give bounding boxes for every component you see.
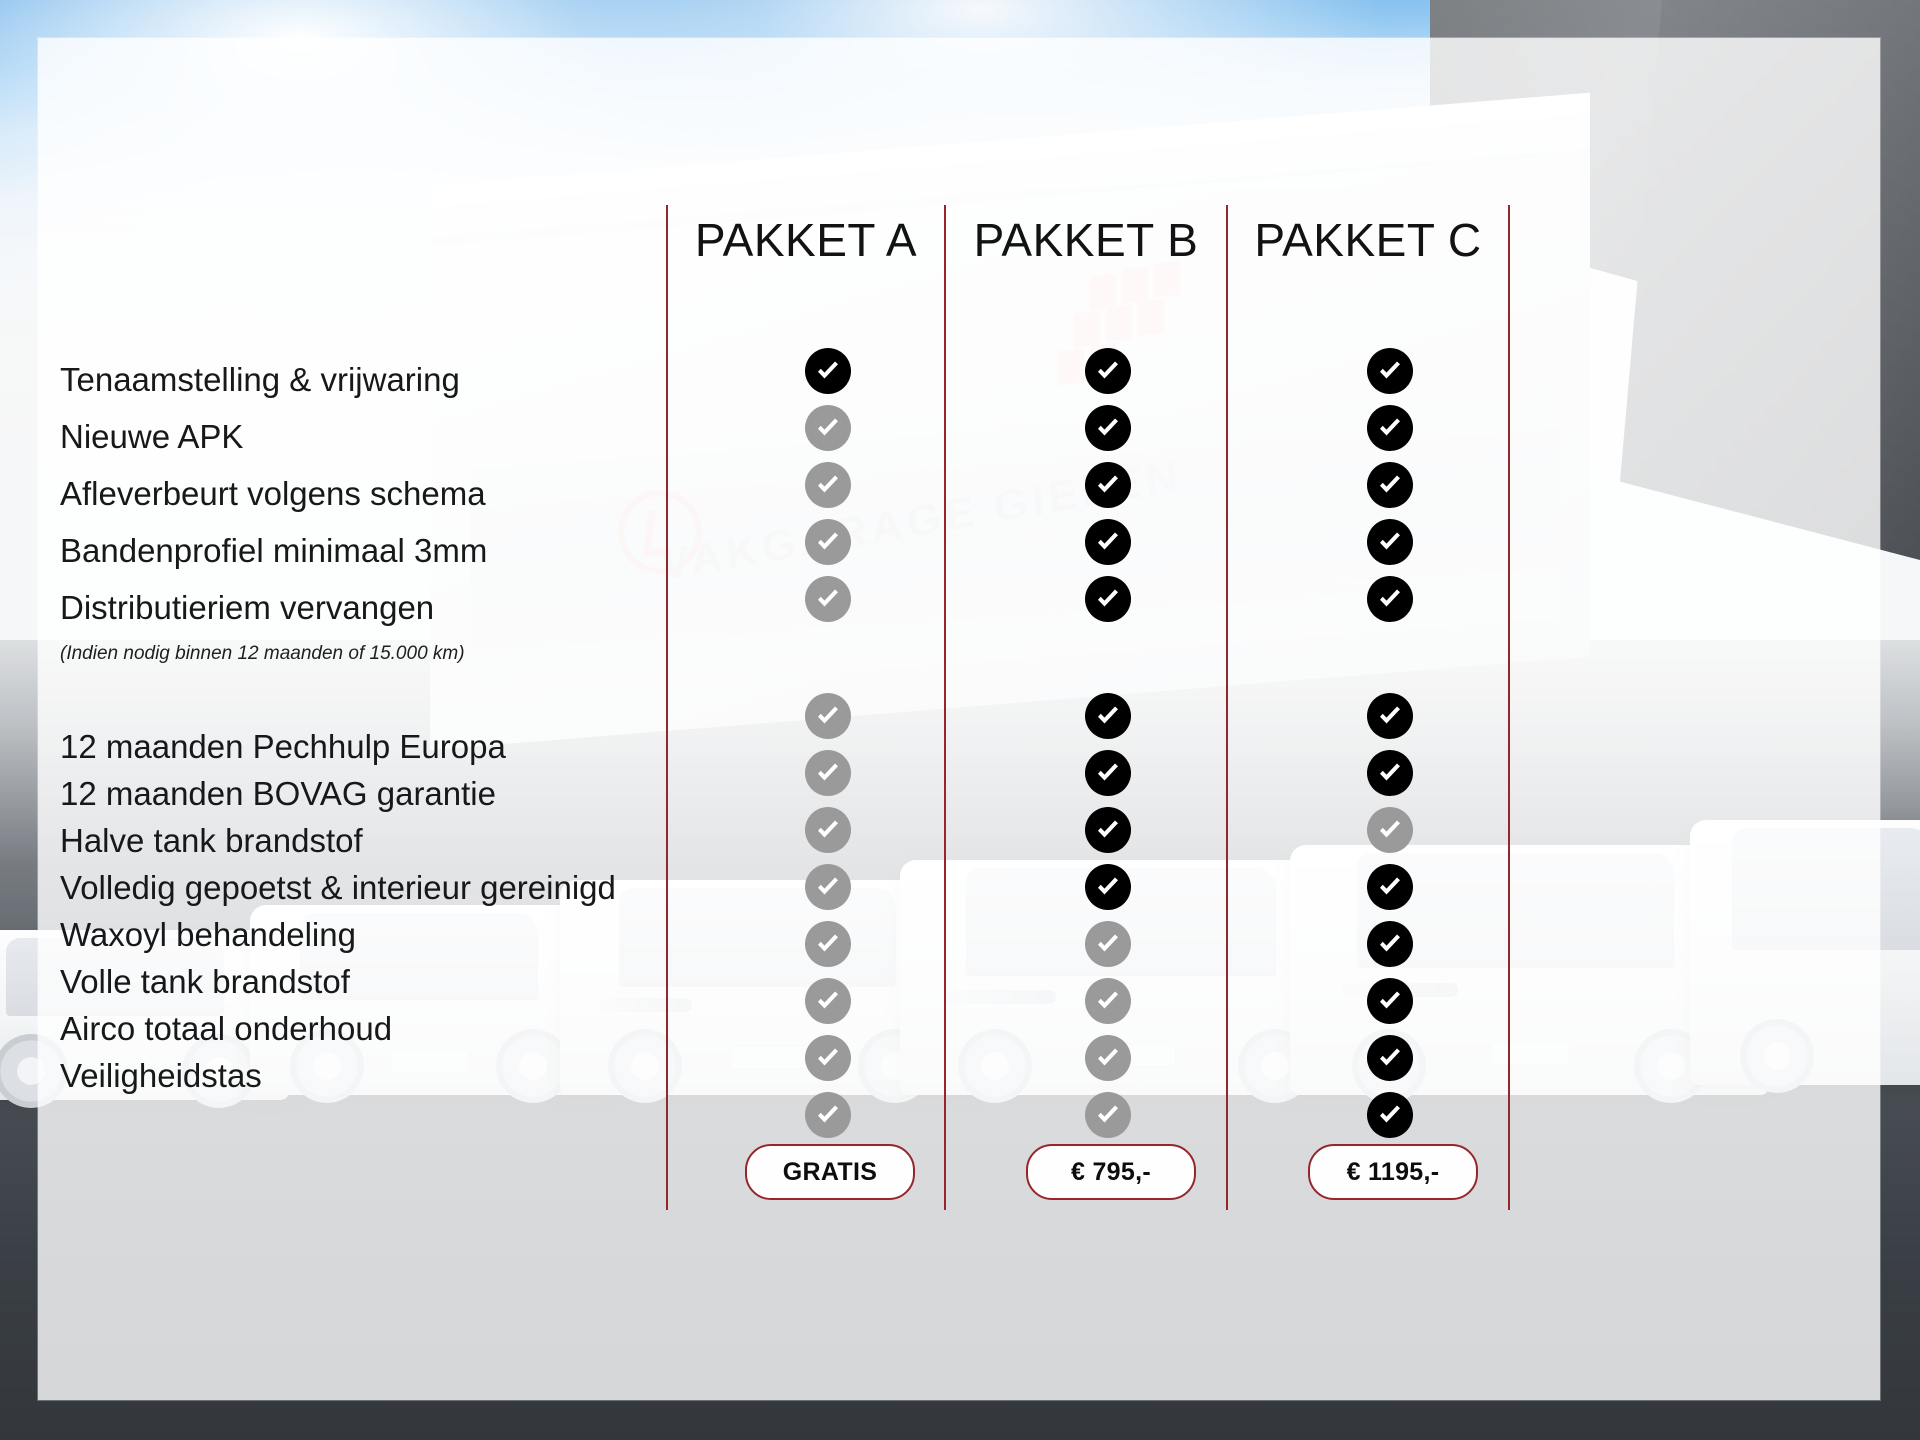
feature-label: Bandenprofiel minimaal 3mm xyxy=(60,534,487,567)
feature-label: Nieuwe APK xyxy=(60,420,243,453)
column-divider-a-b xyxy=(944,205,946,1210)
check-mark-icon xyxy=(805,978,851,1024)
check-mark-icon xyxy=(1367,576,1413,622)
check-mark-icon xyxy=(805,348,851,394)
check-mark-icon xyxy=(1085,864,1131,910)
check-mark-icon xyxy=(1085,462,1131,508)
column-divider-left xyxy=(666,205,668,1210)
feature-label: 12 maanden BOVAG garantie xyxy=(60,777,496,810)
package-header-c: PAKKET C xyxy=(1228,213,1508,267)
feature-label: Halve tank brandstof xyxy=(60,824,363,857)
check-mark-icon xyxy=(1085,1035,1131,1081)
feature-label: Airco totaal onderhoud xyxy=(60,1012,392,1045)
check-mark-icon xyxy=(1085,405,1131,451)
check-mark-icon xyxy=(1367,807,1413,853)
check-mark-icon xyxy=(1367,750,1413,796)
check-mark-icon xyxy=(1367,864,1413,910)
check-mark-icon xyxy=(805,864,851,910)
check-mark-icon xyxy=(1367,1035,1413,1081)
feature-label: Waxoyl behandeling xyxy=(60,918,356,951)
feature-label: Afleverbeurt volgens schema xyxy=(60,477,486,510)
price-button-pakket-c[interactable]: € 1195,- xyxy=(1308,1144,1478,1200)
check-mark-icon xyxy=(1367,519,1413,565)
feature-label: 12 maanden Pechhulp Europa xyxy=(60,730,506,763)
feature-label: Distributieriem vervangen xyxy=(60,591,434,624)
check-mark-icon xyxy=(805,405,851,451)
check-mark-icon xyxy=(1367,405,1413,451)
package-header-a: PAKKET A xyxy=(666,213,946,267)
check-mark-icon xyxy=(805,519,851,565)
check-mark-icon xyxy=(1367,348,1413,394)
feature-label: Volledig gepoetst & interieur gereinigd xyxy=(60,871,616,904)
feature-label: Tenaamstelling & vrijwaring xyxy=(60,363,460,396)
check-mark-icon xyxy=(1085,348,1131,394)
check-mark-icon xyxy=(1085,576,1131,622)
check-mark-icon xyxy=(805,807,851,853)
price-button-pakket-a[interactable]: GRATIS xyxy=(745,1144,915,1200)
column-divider-right xyxy=(1508,205,1510,1210)
price-button-pakket-b[interactable]: € 795,- xyxy=(1026,1144,1196,1200)
package-comparison-table: PAKKET A PAKKET B PAKKET C Tenaamstellin… xyxy=(38,38,1880,1400)
check-mark-icon xyxy=(1367,978,1413,1024)
feature-label: Volle tank brandstof xyxy=(60,965,350,998)
column-divider-b-c xyxy=(1226,205,1228,1210)
screenshot-stage: VAKGARAGE GIELEN xyxy=(0,0,1920,1440)
check-mark-icon xyxy=(1085,693,1131,739)
check-mark-icon xyxy=(1085,978,1131,1024)
check-mark-icon xyxy=(1085,1092,1131,1138)
check-mark-icon xyxy=(1085,750,1131,796)
check-mark-icon xyxy=(1367,462,1413,508)
check-mark-icon xyxy=(1367,693,1413,739)
check-mark-icon xyxy=(805,693,851,739)
check-mark-icon xyxy=(1367,1092,1413,1138)
check-mark-icon xyxy=(1085,519,1131,565)
check-mark-icon xyxy=(1367,921,1413,967)
check-mark-icon xyxy=(805,1035,851,1081)
feature-note: (Indien nodig binnen 12 maanden of 15.00… xyxy=(60,643,465,665)
check-mark-icon xyxy=(805,1092,851,1138)
check-mark-icon xyxy=(1085,807,1131,853)
check-mark-icon xyxy=(805,462,851,508)
package-header-b: PAKKET B xyxy=(946,213,1226,267)
check-mark-icon xyxy=(805,576,851,622)
feature-label: Veiligheidstas xyxy=(60,1059,262,1092)
check-mark-icon xyxy=(805,750,851,796)
check-mark-icon xyxy=(805,921,851,967)
pricing-card: PAKKET A PAKKET B PAKKET C Tenaamstellin… xyxy=(38,38,1880,1400)
check-mark-icon xyxy=(1085,921,1131,967)
